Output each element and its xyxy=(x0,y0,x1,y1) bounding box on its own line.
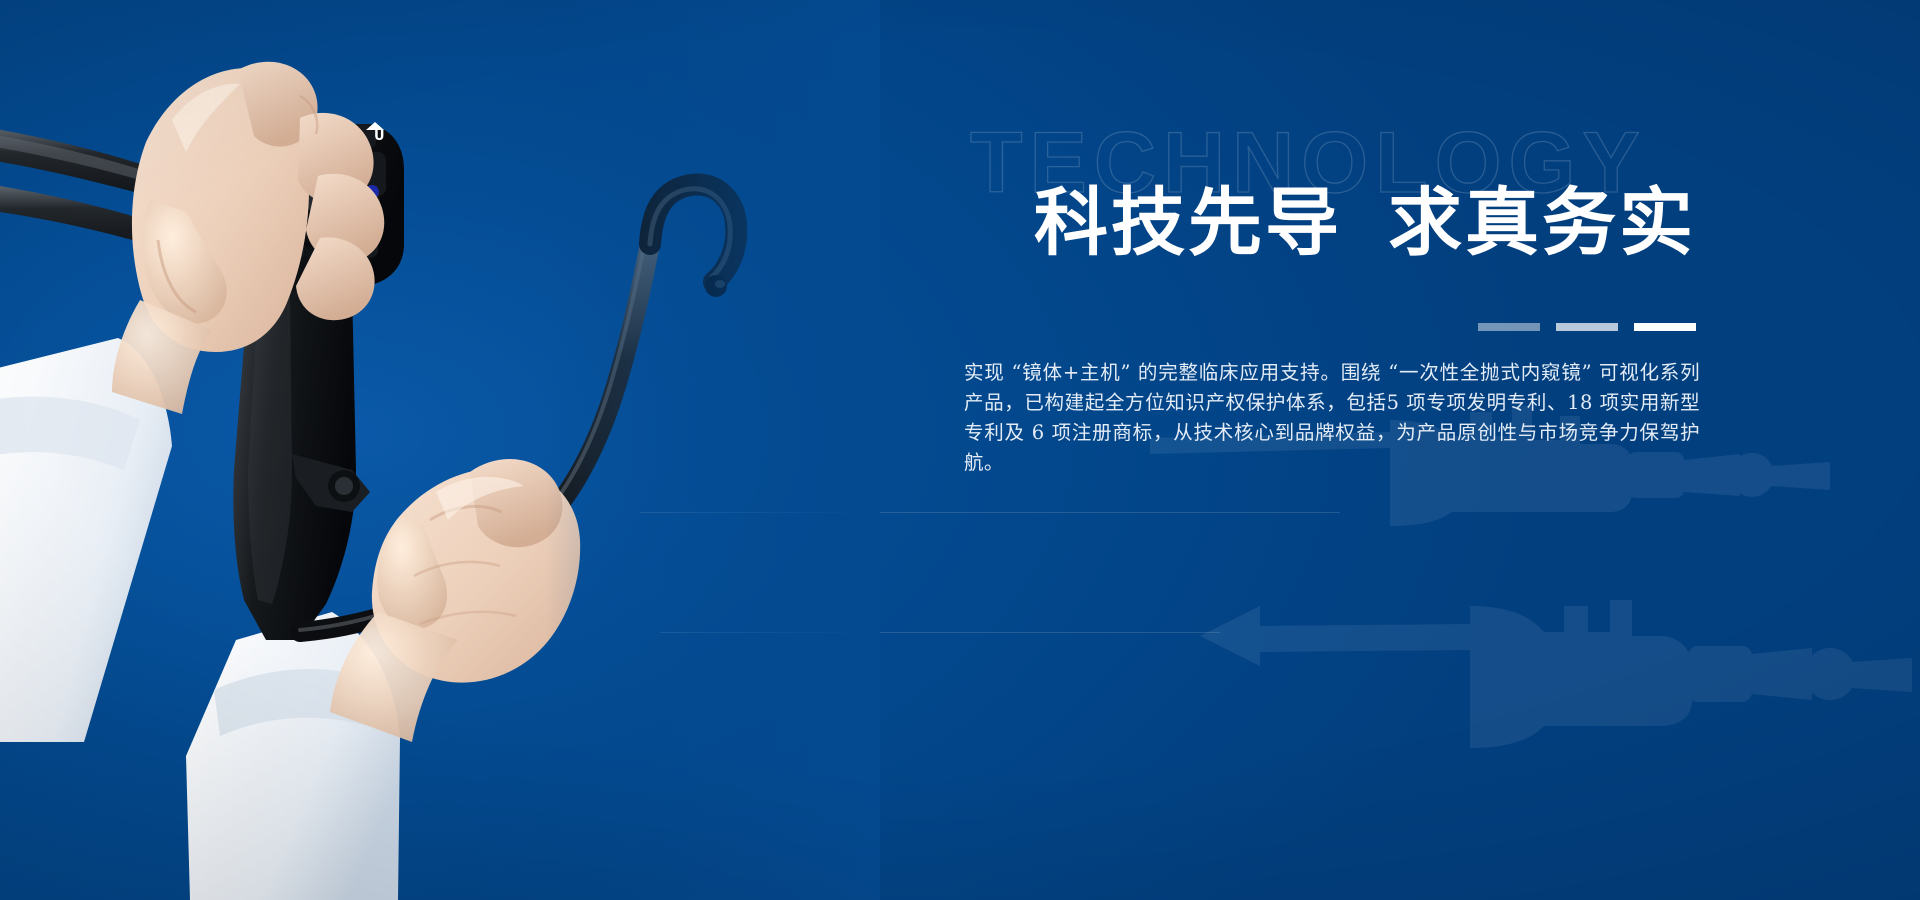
divider-dash-3 xyxy=(1634,323,1696,331)
headline-divider-dashes xyxy=(1478,323,1696,331)
banner-paragraph: 实现 “镜体+主机” 的完整临床应用支持。围绕 “一次性全抛式内窥镜” 可视化系… xyxy=(964,358,1700,478)
banner-headline: 科技先导求真务实 xyxy=(816,183,1696,263)
headline-part-1: 科技先导 xyxy=(1034,181,1342,264)
banner-stage: D R U A R F D xyxy=(0,0,1920,900)
divider-dash-1 xyxy=(1478,323,1540,331)
divider-dash-2 xyxy=(1556,323,1618,331)
banner-paragraph-text: 实现 “镜体+主机” 的完整临床应用支持。围绕 “一次性全抛式内窥镜” 可视化系… xyxy=(964,358,1700,478)
headline-part-2: 求真务实 xyxy=(1388,181,1696,264)
